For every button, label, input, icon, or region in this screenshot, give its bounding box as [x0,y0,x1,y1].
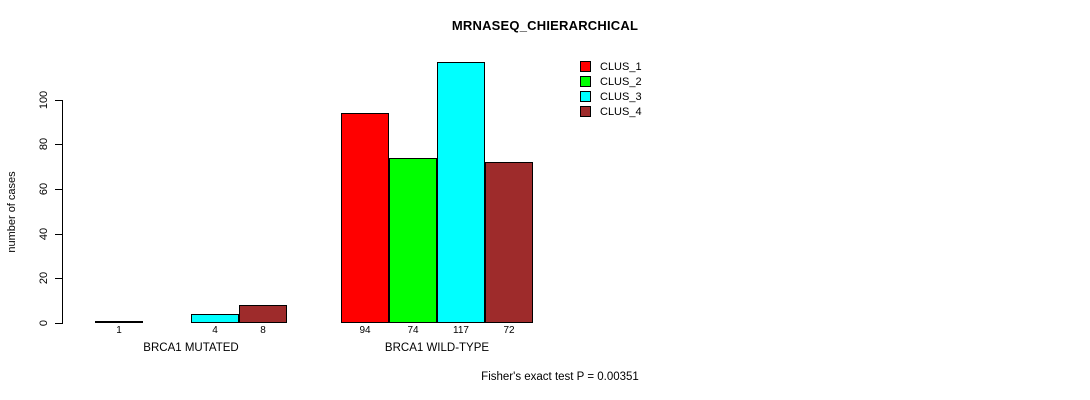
y-axis-tick-label: 60 [38,183,50,195]
y-axis-tick [55,144,62,145]
y-axis-tick [55,100,62,101]
bar-value-label: 74 [407,325,418,336]
stat-annotation: Fisher's exact test P = 0.00351 [481,371,639,383]
bar [389,158,437,323]
group-label: BRCA1 WILD-TYPE [385,342,489,354]
legend-item-label: CLUS_3 [600,90,642,104]
y-axis-tick-label: 20 [38,272,50,284]
bar-value-label: 94 [359,325,370,336]
y-axis-tick [55,234,62,235]
y-axis-tick [55,323,62,324]
page-title: MRNASEQ_CHIERARCHICAL [0,18,1090,33]
legend-color-swatch [580,61,591,72]
y-axis-tick-label: 0 [38,320,50,326]
y-axis-tick-label: 80 [38,138,50,150]
y-axis-tick [55,189,62,190]
group-label: BRCA1 MUTATED [143,342,238,354]
bar [191,314,239,323]
bar [341,113,389,323]
bar [239,305,287,323]
bar [95,321,143,323]
y-axis-tick [55,278,62,279]
barplot-canvas: MRNASEQ_CHIERARCHICAL 020406080100 numbe… [0,0,1090,400]
bar-value-label: 1 [116,325,122,336]
legend-color-swatch [580,106,591,117]
legend-color-swatch [580,91,591,102]
bar-value-label: 8 [260,325,266,336]
y-axis-tick-label: 100 [38,90,50,108]
legend-item-label: CLUS_4 [600,105,642,119]
bar-value-label: 72 [503,325,514,336]
legend-item-label: CLUS_2 [600,75,642,89]
y-axis-title: number of cases [6,171,18,252]
bar-value-label: 4 [212,325,218,336]
legend-item-label: CLUS_1 [600,60,642,74]
y-axis-line [62,100,63,324]
bar-value-label: 117 [453,325,469,336]
legend-color-swatch [580,76,591,87]
y-axis-tick-label: 40 [38,227,50,239]
bar [485,162,533,323]
bar [437,62,485,323]
